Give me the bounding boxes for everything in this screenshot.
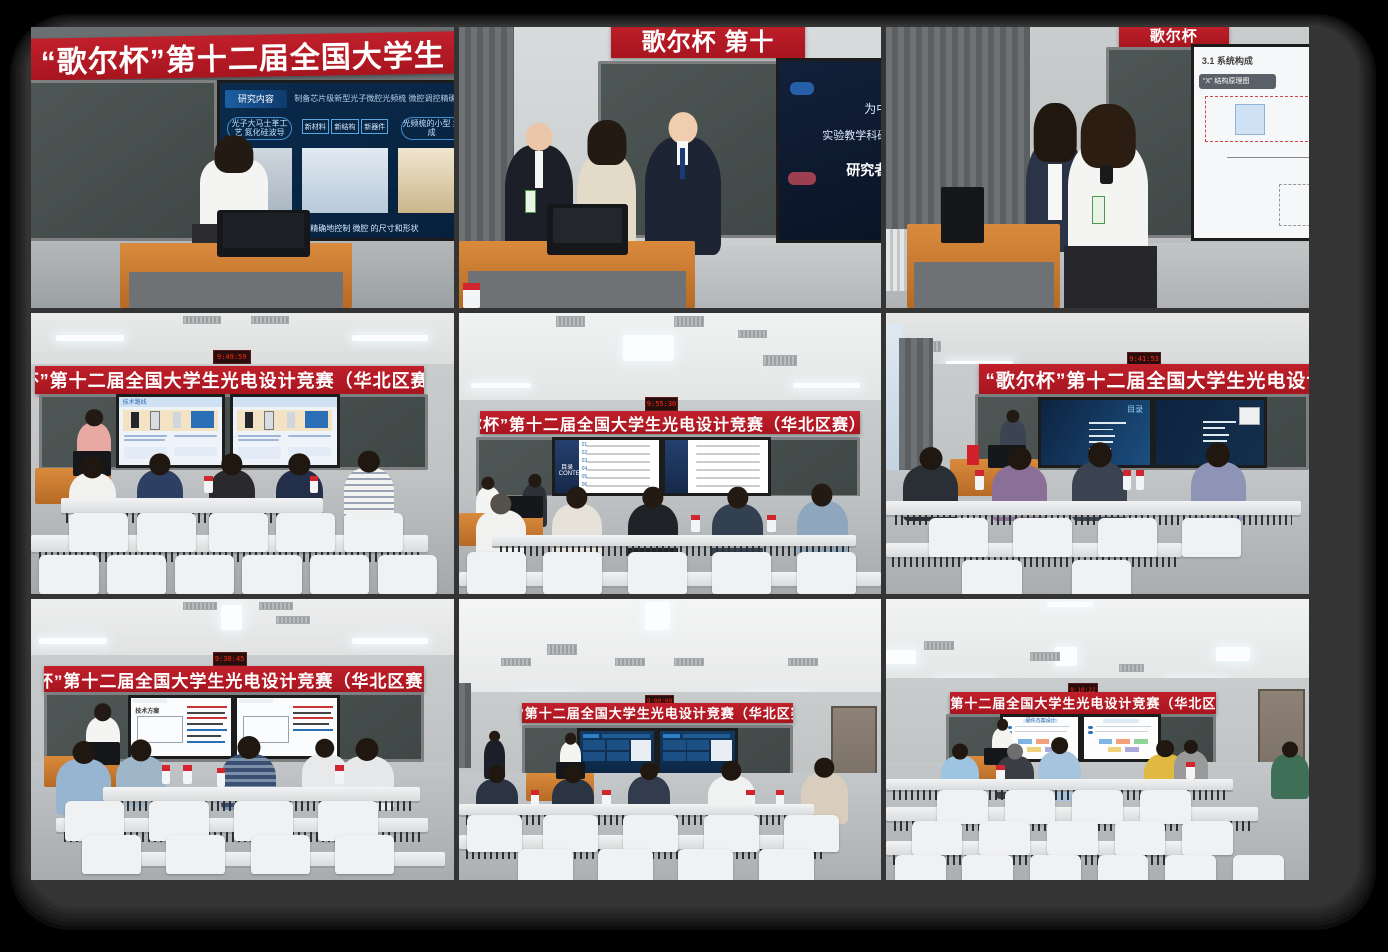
photo-cell-3[interactable]: 歌尔杯 3.1 系统构成 “X” 结构原理图 <box>886 27 1309 308</box>
water-bottle-7b <box>183 765 191 785</box>
water-bottle-7c <box>217 768 225 788</box>
chair-6d <box>1182 518 1241 557</box>
presentation-screen-4a: 技术路线 <box>116 394 226 467</box>
blackboard-1 <box>31 80 217 240</box>
chair-7e <box>82 835 141 874</box>
photo-cell-2[interactable]: 歌尔杯 第十 为中 实验教学科研 研究者 <box>459 27 882 308</box>
water-bottle-5b <box>767 515 775 532</box>
chair-8d <box>704 815 759 852</box>
chair-9g <box>1047 821 1098 855</box>
slide-footer-1: 上并精确地控制 微腔 的尺寸和形状 <box>294 221 453 236</box>
chair-8i <box>759 849 814 880</box>
slide-title-1: 研究内容 <box>225 90 287 108</box>
chair-6a <box>929 518 988 557</box>
chair-8g <box>598 849 653 880</box>
clock-4: 9:49:59 <box>213 350 251 364</box>
desk-9a <box>886 779 1233 790</box>
podium-3 <box>907 224 1059 308</box>
presentation-screen-2: 为中 实验教学科研 研究者 <box>776 58 882 243</box>
banner-2-text: 歌尔杯 第十 <box>642 27 775 57</box>
chair-9b <box>1005 790 1056 824</box>
chair-4j <box>310 555 369 594</box>
chair-4f <box>39 555 98 594</box>
chair-8a <box>467 815 522 852</box>
clock-6-text: 9:41:53 <box>1129 355 1159 363</box>
slide-item-5a4: 04 <box>582 466 588 472</box>
banner-7-text: “歌尔杯”第十二届全国大学生光电设计竞赛（华北区赛）决赛 <box>44 667 424 692</box>
water-bottle-4b <box>310 476 318 493</box>
water-bottle-6b <box>1123 470 1131 490</box>
slide-tag-1e: 光频梳的小型 集成 <box>401 117 454 140</box>
chair-8h <box>678 849 733 880</box>
chair-5e <box>797 552 856 594</box>
banner-1-text: “歌尔杯”第十二届全国大学生 <box>40 32 445 82</box>
flag-6 <box>967 445 980 465</box>
desk-5a <box>492 535 855 546</box>
chair-9c <box>1072 790 1123 824</box>
chair-4c <box>209 513 268 552</box>
person-3b-skirt <box>1064 246 1157 308</box>
chair-8b <box>543 815 598 852</box>
banner-1: “歌尔杯”第十二届全国大学生 <box>31 32 454 82</box>
slide-item-5a3: 03 <box>582 458 588 464</box>
desk-6a <box>886 501 1300 515</box>
banner-5: “歌尔杯”第十二届全国大学生光电设计竞赛（华北区赛）决赛 <box>480 411 860 433</box>
chair-7g <box>251 835 310 874</box>
competition-photo-grid: “歌尔杯”第十二届全国大学生 研究内容 制备芯片级新型光子微腔光频梳 微腔调控精… <box>31 27 1309 880</box>
presentation-screen-5a: 目录 CONTENTS 01 02 03 04 05 06 <box>552 437 662 496</box>
chair-9a <box>937 790 988 824</box>
chair-9e <box>912 821 963 855</box>
slide-title-5a: 目录 CONTENTS <box>559 462 576 477</box>
presentation-screen-5b <box>662 437 772 496</box>
slide-title-6: 目录 <box>1127 404 1143 415</box>
podium-monitor-3 <box>941 187 983 243</box>
slide-subtitle-3: “X” 结构原理图 <box>1199 74 1276 89</box>
presentation-screen-4b <box>230 394 340 467</box>
chair-6b <box>1013 518 1072 557</box>
photo-cell-7[interactable]: 9:30:45 “歌尔杯”第十二届全国大学生光电设计竞赛（华北区赛）决赛 技术方… <box>31 599 454 880</box>
chair-9i <box>1182 821 1233 855</box>
clock-5-text: 9:55:30 <box>647 400 677 408</box>
chair-9d <box>1140 790 1191 824</box>
chair-4h <box>175 555 234 594</box>
photo-cell-5[interactable]: 9:55:30 “歌尔杯”第十二届全国大学生光电设计竞赛（华北区赛）决赛 目录 … <box>459 313 882 594</box>
banner-4-text: “歌尔杯”第十二届全国大学生光电设计竞赛（华北区赛）决赛 <box>35 367 424 393</box>
presentation-screen-3: 3.1 系统构成 “X” 结构原理图 <box>1191 44 1309 241</box>
slide-figure-1c <box>398 148 453 213</box>
water-bottle-5a <box>691 515 699 532</box>
slide-title-4a: 技术路线 <box>123 399 158 405</box>
curtain-8 <box>459 683 472 767</box>
screenshot-root: “歌尔杯”第十二届全国大学生 研究内容 制备芯片级新型光子微腔光频梳 微腔调控精… <box>0 0 1388 952</box>
banner-6-text: “歌尔杯”第十二届全国大学生光电设计竞赛（华北 <box>985 366 1309 393</box>
photo-cell-8[interactable]: 9:00:00 “歌尔杯”第十二届全国大学生光电设计竞赛（华北区赛）决赛 <box>459 599 882 880</box>
chair-4g <box>107 555 166 594</box>
chair-6e <box>962 560 1021 594</box>
water-bottle-7a <box>162 765 170 785</box>
slide-tag-1d: 新器件 <box>361 119 388 134</box>
chair-8c <box>623 815 678 852</box>
chair-4d <box>276 513 335 552</box>
slide-title-9: 硬件方案设计 <box>1023 719 1059 722</box>
clock-7: 9:30:45 <box>213 652 247 666</box>
podium-monitor-2 <box>547 204 627 255</box>
banner-5-text: “歌尔杯”第十二届全国大学生光电设计竞赛（华北区赛）决赛 <box>480 411 860 433</box>
chair-8e <box>784 815 839 852</box>
banner-9-text: “歌尔杯”第十二届全国大学生光电设计竞赛（华北区赛）决赛 <box>950 693 1216 712</box>
chair-5c <box>628 552 687 594</box>
banner-4: “歌尔杯”第十二届全国大学生光电设计竞赛（华北区赛）决赛 <box>35 366 424 394</box>
chair-9k <box>962 855 1013 880</box>
slide-line-2a: 为中 <box>786 100 882 117</box>
desk-8a <box>459 804 814 815</box>
chair-4i <box>242 555 301 594</box>
clock-4-text: 9:49:59 <box>217 353 247 361</box>
podium-monitor-1 <box>217 210 310 258</box>
chair-6c <box>1098 518 1157 557</box>
photo-cell-4[interactable]: 9:49:59 “歌尔杯”第十二届全国大学生光电设计竞赛（华北区赛）决赛 技术路… <box>31 313 454 594</box>
slide-line-2b: 实验教学科研 <box>786 127 882 143</box>
chair-9l <box>1030 855 1081 880</box>
chair-9f <box>979 821 1030 855</box>
chair-5a <box>467 552 526 594</box>
chair-9n <box>1165 855 1216 880</box>
photo-cell-6[interactable]: 9:41:53 “歌尔杯”第十二届全国大学生光电设计竞赛（华北 目录 <box>886 313 1309 594</box>
banner-9: “歌尔杯”第十二届全国大学生光电设计竞赛（华北区赛）决赛 <box>950 692 1216 714</box>
chair-9o <box>1233 855 1284 880</box>
photo-cell-1[interactable]: “歌尔杯”第十二届全国大学生 研究内容 制备芯片级新型光子微腔光频梳 微腔调控精… <box>31 27 454 308</box>
desk-7a <box>103 787 420 801</box>
slide-figure-1b <box>302 148 389 213</box>
person-3b <box>1068 139 1148 257</box>
chair-5d <box>712 552 771 594</box>
clock-7-text: 9:30:45 <box>215 655 245 663</box>
photo-cell-9[interactable]: 9:10:22 “歌尔杯”第十二届全国大学生光电设计竞赛（华北区赛）决赛 硬件方… <box>886 599 1309 880</box>
slide-item-5a1: 01 <box>582 442 588 448</box>
water-bottle-9b <box>1186 762 1194 779</box>
water-bottle-6a <box>975 470 983 490</box>
audience-9f <box>1271 754 1309 799</box>
water-bottle-2 <box>463 283 480 308</box>
slide-item-5a2: 02 <box>582 450 588 456</box>
slide-item-5a5: 05 <box>582 474 588 480</box>
water-bottle-7d <box>335 765 343 785</box>
banner-8: “歌尔杯”第十二届全国大学生光电设计竞赛（华北区赛）决赛 <box>522 703 793 723</box>
chair-4k <box>378 555 437 594</box>
chair-9j <box>895 855 946 880</box>
presentation-screen-9b <box>1081 714 1161 762</box>
slide-title-3: 3.1 系统构成 <box>1202 54 1271 67</box>
chair-4b <box>137 513 196 552</box>
slide-tag-1c: 新结构 <box>331 119 358 134</box>
chair-4e <box>344 513 403 552</box>
slide-tag-1b: 新材料 <box>302 119 329 134</box>
water-bottle-4a <box>204 476 212 493</box>
banner-8-text: “歌尔杯”第十二届全国大学生光电设计竞赛（华北区赛）决赛 <box>522 703 793 722</box>
person-2c <box>645 137 721 255</box>
banner-6: “歌尔杯”第十二届全国大学生光电设计竞赛（华北 <box>979 364 1309 395</box>
desk-4a <box>61 498 323 512</box>
chair-7f <box>166 835 225 874</box>
chair-9h <box>1115 821 1166 855</box>
chair-8f <box>518 849 573 880</box>
banner-2: 歌尔杯 第十 <box>611 27 805 58</box>
clock-5: 9:55:30 <box>645 397 679 411</box>
chair-5b <box>543 552 602 594</box>
chair-4a <box>69 513 128 552</box>
slide-title-7: 技术方案 <box>135 706 159 715</box>
slide-item-5a6: 06 <box>582 482 588 488</box>
chair-9m <box>1098 855 1149 880</box>
banner-7: “歌尔杯”第十二届全国大学生光电设计竞赛（华北区赛）决赛 <box>44 666 424 691</box>
slide-heading-1: 制备芯片级新型光子微腔光频梳 微腔调控精确 <box>294 91 453 106</box>
water-bottle-6c <box>1136 470 1144 490</box>
chair-7h <box>335 835 394 874</box>
chair-6f <box>1072 560 1131 594</box>
